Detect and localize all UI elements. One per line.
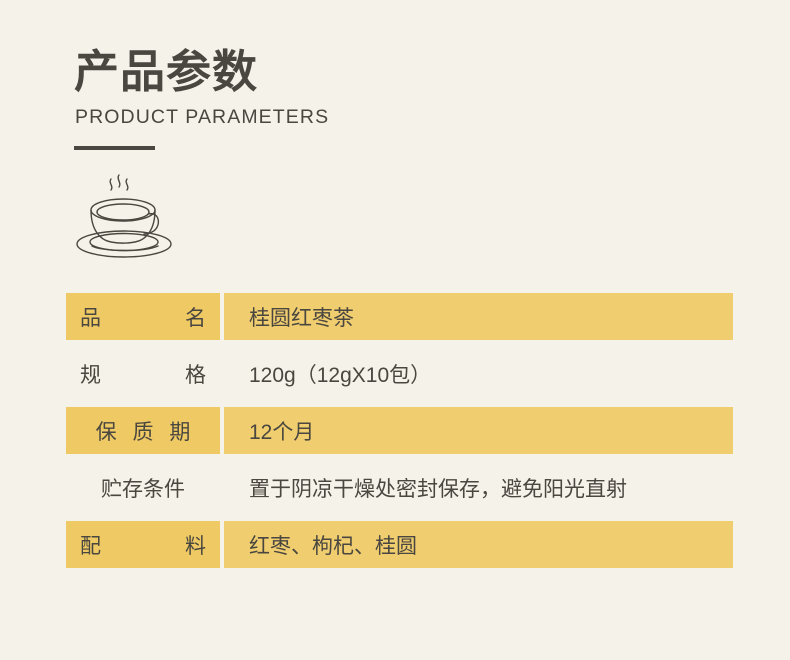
table-row: 品 名 桂圆红枣茶 bbox=[66, 293, 733, 340]
page-title-english: PRODUCT PARAMETERS bbox=[75, 106, 714, 129]
spec-label-cell: 品 名 bbox=[66, 293, 220, 340]
spec-label-text: 配 料 bbox=[80, 530, 206, 560]
table-row: 配 料 红枣、枸杞、桂圆 bbox=[66, 521, 733, 568]
spec-value-cell: 12个月 bbox=[224, 407, 733, 454]
spec-value-cell: 红枣、枸杞、桂圆 bbox=[224, 521, 733, 568]
spec-label-cell: 规 格 bbox=[66, 350, 220, 397]
spec-label-cell: 贮存条件 bbox=[66, 464, 220, 511]
spec-value-text: 12个月 bbox=[249, 416, 314, 446]
product-parameters-page: 产品参数 PRODUCT PARAMETERS bbox=[0, 0, 790, 660]
spec-label-text: 保 质 期 bbox=[91, 416, 196, 446]
page-title-chinese: 产品参数 bbox=[74, 44, 714, 100]
spec-value-text: 桂圆红枣茶 bbox=[249, 302, 354, 332]
page-header: 产品参数 PRODUCT PARAMETERS bbox=[74, 44, 714, 150]
spec-label-cell: 配 料 bbox=[66, 521, 220, 568]
spec-value-cell: 桂圆红枣茶 bbox=[224, 293, 733, 340]
spec-label-cell: 保 质 期 bbox=[66, 407, 220, 454]
table-row: 保 质 期 12个月 bbox=[66, 407, 733, 454]
table-row: 贮存条件 置于阴凉干燥处密封保存，避免阳光直射 bbox=[66, 464, 733, 511]
spec-label-text: 规 格 bbox=[80, 359, 206, 389]
title-underline-rule bbox=[74, 146, 155, 150]
spec-value-cell: 置于阴凉干燥处密封保存，避免阳光直射 bbox=[224, 464, 733, 511]
spec-table: 品 名 桂圆红枣茶 规 格 120g（12gX10包） 保 质 期 12个月 bbox=[66, 293, 733, 568]
table-row: 规 格 120g（12gX10包） bbox=[66, 350, 733, 397]
spec-label-text: 贮存条件 bbox=[101, 473, 185, 503]
spec-label-text: 品 名 bbox=[80, 302, 206, 332]
teacup-icon bbox=[66, 168, 186, 268]
spec-value-text: 置于阴凉干燥处密封保存，避免阳光直射 bbox=[249, 473, 627, 503]
spec-value-cell: 120g（12gX10包） bbox=[224, 350, 733, 397]
spec-value-text: 红枣、枸杞、桂圆 bbox=[249, 530, 417, 560]
spec-value-text: 120g（12gX10包） bbox=[249, 359, 431, 389]
